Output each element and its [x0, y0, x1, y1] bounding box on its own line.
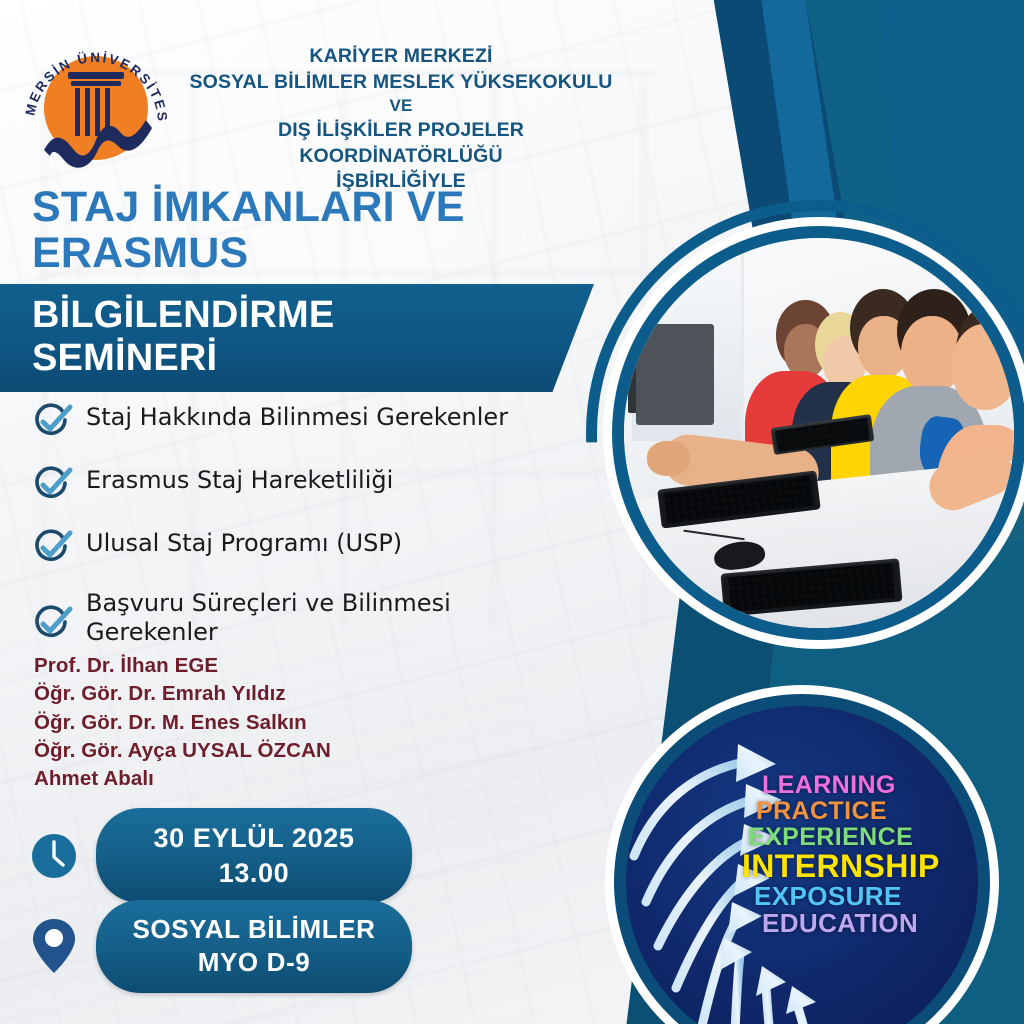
- list-item: Ulusal Staj Programı (USP): [30, 526, 590, 569]
- banner-line-2: SEMİNERİ: [32, 337, 552, 380]
- internship-word-list: LEARNING PRACTICE EXPERIENCE INTERNSHIP …: [754, 772, 978, 937]
- list-item-label: Staj Hakkında Bilinmesi Gerekenler: [86, 400, 508, 432]
- list-item: Staj Hakkında Bilinmesi Gerekenler: [30, 400, 590, 443]
- internship-word-internship: INTERNSHIP: [742, 850, 978, 883]
- page-title: STAJ İMKANLARI VE ERASMUS: [32, 184, 572, 277]
- list-item: Erasmus Staj Hareketliliği: [30, 463, 590, 506]
- date-row: 30 EYLÜL 2025 13.00: [28, 808, 412, 903]
- photo-student-5-face: [952, 324, 1014, 410]
- header-line-3: VE: [186, 95, 616, 117]
- list-item-label: Ulusal Staj Programı (USP): [86, 526, 402, 558]
- speaker-list: Prof. Dr. İlhan EGE Öğr. Gör. Dr. Emrah …: [34, 652, 331, 793]
- place-line-1: SOSYAL BİLİMLER: [106, 913, 402, 946]
- topic-list: Staj Hakkında Bilinmesi Gerekenler Erasm…: [30, 400, 590, 668]
- internship-word-education: EDUCATION: [762, 910, 978, 937]
- header-block: KARİYER MERKEZİ SOSYAL BİLİMLER MESLEK Y…: [186, 44, 616, 195]
- internship-word-practice: PRACTICE: [756, 798, 978, 824]
- internship-word-experience: EXPERIENCE: [748, 824, 978, 850]
- place-line-2: MYO D-9: [106, 946, 402, 979]
- header-line-4: DIŞ İLİŞKİLER PROJELER KOORDİNATÖRLÜĞÜ: [186, 118, 616, 169]
- banner-line-1: BİLGİLENDİRME: [32, 294, 552, 337]
- poster-canvas: LEARNING PRACTICE EXPERIENCE INTERNSHIP …: [0, 0, 1024, 1024]
- list-item: Başvuru Süreçleri ve Bilinmesi Gerekenle…: [30, 589, 590, 648]
- logo-svg: MERSİN ÜNİVERSİTESİ 1992: [16, 28, 176, 188]
- date-line-1: 30 EYLÜL 2025: [106, 821, 402, 856]
- internship-word-learning: LEARNING: [762, 772, 978, 798]
- photo-monitor: [636, 324, 714, 425]
- check-circle-icon: [30, 527, 74, 569]
- check-circle-icon: [30, 603, 74, 645]
- title-line-2: ERASMUS: [32, 230, 572, 276]
- check-circle-icon: [30, 401, 74, 443]
- internship-word-exposure: EXPOSURE: [754, 883, 978, 910]
- header-line-2: SOSYAL BİLİMLER MESLEK YÜKSEKOKULU: [186, 70, 616, 96]
- banner-title: BİLGİLENDİRME SEMİNERİ: [32, 294, 552, 381]
- location-pin-icon: [28, 917, 80, 975]
- speaker-name: Prof. Dr. İlhan EGE: [34, 652, 331, 680]
- internship-graphic: LEARNING PRACTICE EXPERIENCE INTERNSHIP …: [626, 706, 978, 1024]
- check-circle-icon: [30, 464, 74, 506]
- date-pill: 30 EYLÜL 2025 13.00: [96, 808, 412, 903]
- students-computer-photo: [624, 238, 1014, 628]
- list-item-label: Erasmus Staj Hareketliliği: [86, 463, 393, 495]
- title-line-1: STAJ İMKANLARI VE: [32, 184, 572, 230]
- clock-icon: [28, 827, 80, 885]
- place-row: SOSYAL BİLİMLER MYO D-9: [28, 900, 412, 993]
- speaker-name: Öğr. Gör. Dr. Emrah Yıldız: [34, 680, 331, 708]
- list-item-label: Başvuru Süreçleri ve Bilinmesi Gerekenle…: [86, 589, 506, 648]
- header-line-1: KARİYER MERKEZİ: [186, 44, 616, 70]
- university-logo: MERSİN ÜNİVERSİTESİ 1992: [16, 28, 176, 188]
- speaker-name: Ahmet Abalı: [34, 765, 331, 793]
- photo-hand: [647, 441, 690, 476]
- date-line-2: 13.00: [106, 856, 402, 891]
- speaker-name: Öğr. Gör. Ayça UYSAL ÖZCAN: [34, 737, 331, 765]
- speaker-name: Öğr. Gör. Dr. M. Enes Salkın: [34, 709, 331, 737]
- place-pill: SOSYAL BİLİMLER MYO D-9: [96, 900, 412, 993]
